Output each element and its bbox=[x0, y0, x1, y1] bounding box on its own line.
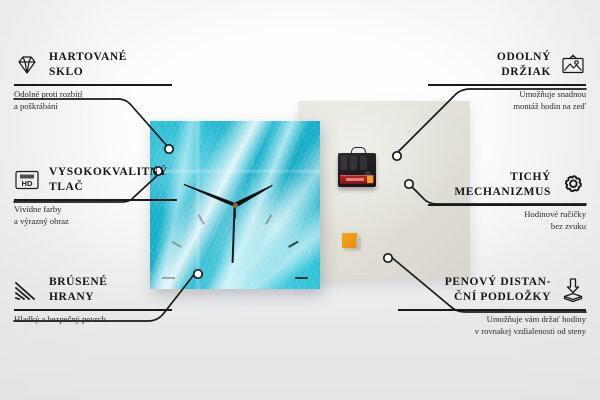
title-line-2: DRŽIAK bbox=[497, 65, 551, 80]
sub-line-2: montáž hodin na zeď bbox=[426, 101, 586, 113]
sub-line-2: v rovnakej vzdialenosti od steny bbox=[396, 326, 586, 338]
callout-subtitle: Hladký a bezpečný povrch bbox=[14, 314, 174, 326]
sub-line-1: Umožňuje snadnou bbox=[426, 89, 586, 101]
clock-center-pin bbox=[233, 203, 238, 208]
callout-ground-edges: BRÚSENÉ HRANY Hladký a bezpečný povrch bbox=[14, 275, 174, 326]
callout-rule bbox=[428, 204, 586, 205]
callout-title: BRÚSENÉ HRANY bbox=[49, 275, 108, 305]
sub-line-2: bez zvuku bbox=[426, 221, 586, 233]
movement-detail bbox=[341, 156, 373, 170]
title-line-2: HRANY bbox=[49, 290, 108, 305]
callout-rule bbox=[428, 84, 586, 85]
battery-plus-terminal bbox=[367, 176, 373, 183]
title-line-2: ČNÍ PODLOŽKY bbox=[445, 290, 551, 305]
callout-rule bbox=[14, 309, 172, 310]
callout-silent-mechanism: TICHÝ MECHANIZMUS Hodinové ručičky bez z… bbox=[426, 170, 586, 232]
pad-arrow-icon bbox=[560, 277, 586, 303]
battery-label bbox=[346, 178, 364, 181]
callout-subtitle: Umožňuje snadnou montáž hodin na zeď bbox=[426, 89, 586, 113]
hanger-loop-icon bbox=[351, 147, 366, 156]
title-line-1: ODOLNÝ bbox=[497, 50, 551, 65]
title-line-1: VYSOKOKVALITNÝ bbox=[49, 165, 168, 180]
callout-subtitle: Odolné proti rozbití a poškrábání bbox=[14, 89, 174, 113]
callout-tempered-glass: HARTOVANÉ SKLO Odolné proti rozbití a po… bbox=[14, 50, 174, 112]
callout-subtitle: Hodinové ručičky bez zvuku bbox=[426, 209, 586, 233]
title-line-2: TLAČ bbox=[49, 180, 168, 195]
sub-line-2: a poškrábání bbox=[14, 101, 174, 113]
battery bbox=[340, 175, 374, 184]
title-line-1: BRÚSENÉ bbox=[49, 275, 108, 290]
gear-icon bbox=[560, 172, 586, 198]
callout-title: HARTOVANÉ SKLO bbox=[49, 50, 127, 80]
sub-line-1: Umožňuje vám držať hodiny bbox=[396, 314, 586, 326]
title-line-2: SKLO bbox=[49, 65, 127, 80]
title-line-1: PENOVÝ DISTAN- bbox=[445, 275, 551, 290]
callout-title: VYSOKOKVALITNÝ TLAČ bbox=[49, 165, 168, 195]
sub-line-1: Hodinové ručičky bbox=[426, 209, 586, 221]
svg-text:HD: HD bbox=[22, 179, 33, 188]
hanging-picture-icon bbox=[560, 52, 586, 78]
product-infographic: HARTOVANÉ SKLO Odolné proti rozbití a po… bbox=[0, 0, 600, 400]
callout-title: ODOLNÝ DRŽIAK bbox=[497, 50, 551, 80]
sub-line-2: a výrazný obraz bbox=[14, 216, 179, 228]
sub-line-1: Hladký a bezpečný povrch bbox=[14, 314, 174, 326]
callout-foam-spacers: PENOVÝ DISTAN- ČNÍ PODLOŽKY Umožňuje vám… bbox=[396, 275, 586, 337]
callout-rule bbox=[14, 84, 172, 85]
product-image bbox=[138, 103, 468, 288]
callout-rule bbox=[14, 199, 177, 200]
ultra-hd-icon: HD bbox=[14, 167, 40, 193]
clock-movement bbox=[338, 153, 376, 187]
callout-title: TICHÝ MECHANIZMUS bbox=[454, 170, 551, 200]
callout-rule bbox=[398, 309, 586, 310]
tick-3 bbox=[295, 277, 308, 279]
callout-durable-hanger: ODOLNÝ DRŽIAK Umožňuje snadnou montáž h bbox=[426, 50, 586, 112]
callout-subtitle: Umožňuje vám držať hodiny v rovnakej vzd… bbox=[396, 314, 586, 338]
diagonal-stripes-icon bbox=[14, 277, 40, 303]
callout-title: PENOVÝ DISTAN- ČNÍ PODLOŽKY bbox=[445, 275, 551, 305]
title-line-2: MECHANIZMUS bbox=[454, 185, 551, 200]
title-line-1: TICHÝ bbox=[454, 170, 551, 185]
callout-high-quality-print: HD VYSOKOKVALITNÝ TLAČ Vivídne farby a v… bbox=[14, 165, 179, 227]
sub-line-1: Vivídne farby bbox=[14, 204, 179, 216]
sub-line-1: Odolné proti rozbití bbox=[14, 89, 174, 101]
foam-spacer-pad bbox=[342, 233, 357, 248]
callout-subtitle: Vivídne farby a výrazný obraz bbox=[14, 204, 179, 228]
diamond-icon bbox=[14, 52, 40, 78]
title-line-1: HARTOVANÉ bbox=[49, 50, 127, 65]
